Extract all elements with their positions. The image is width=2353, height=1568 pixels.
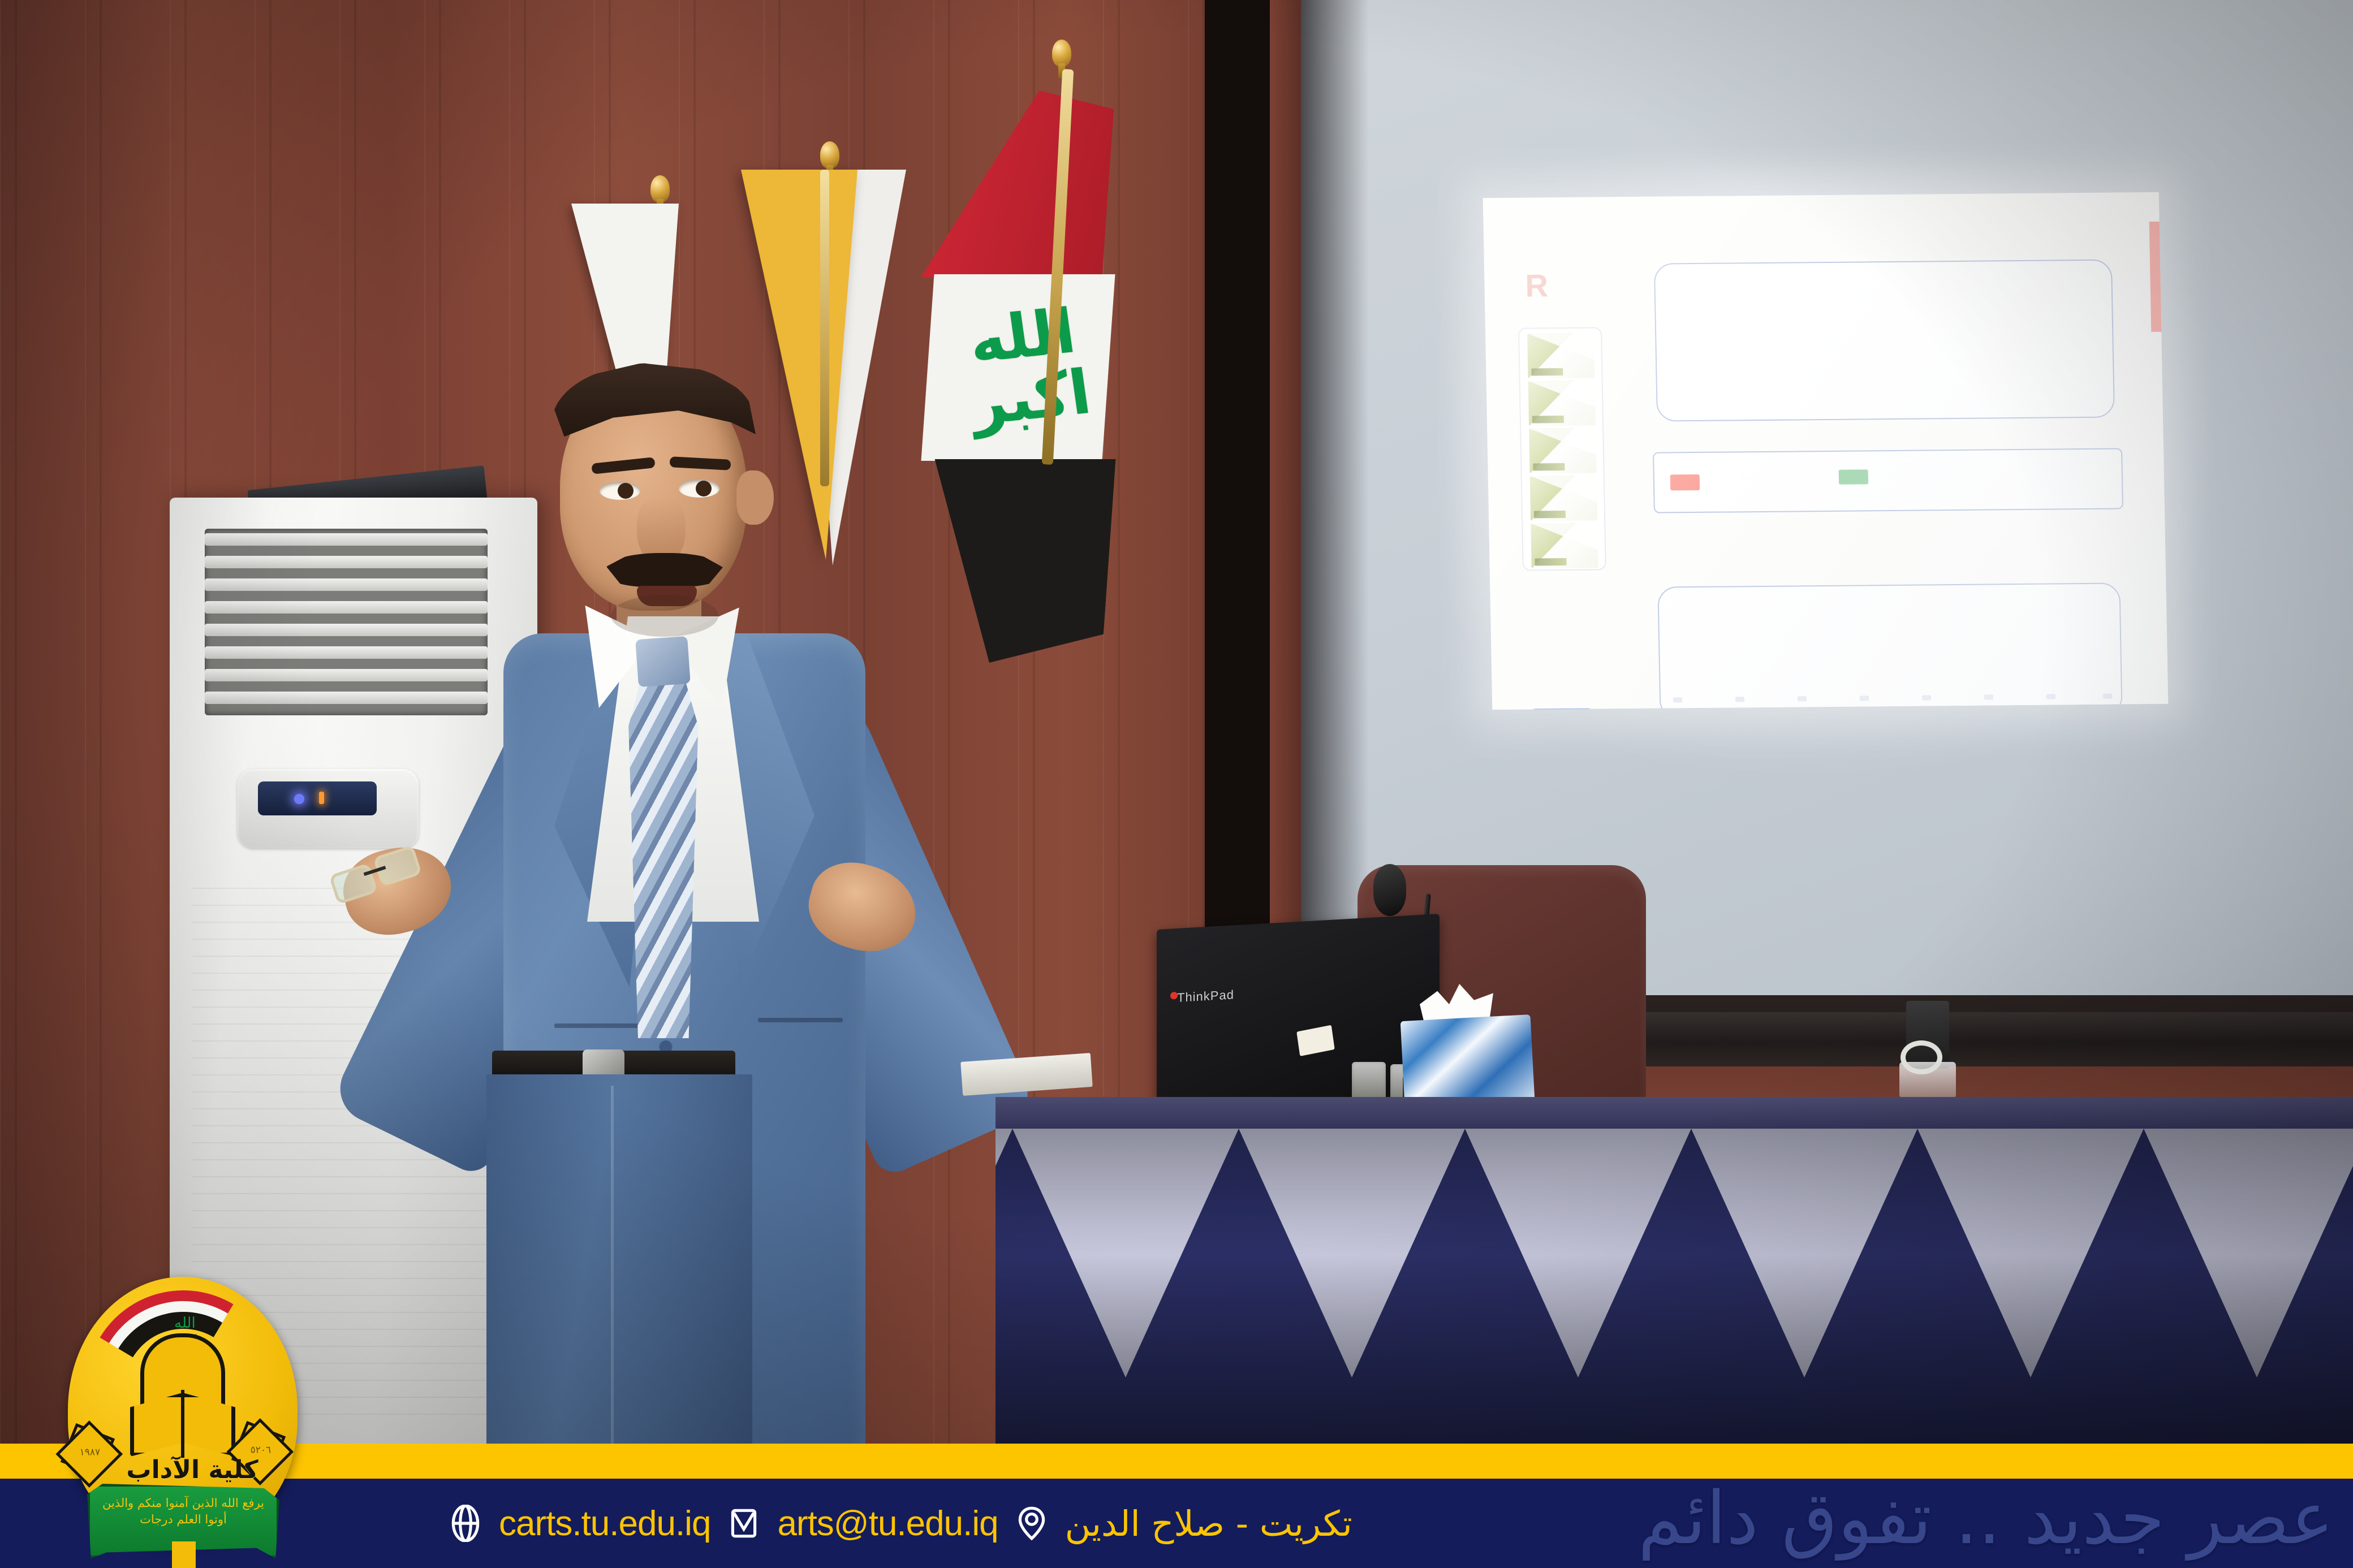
- slide-green-swatch: [1839, 469, 1868, 484]
- slide-color-stack: [1527, 655, 1607, 710]
- slide-thumbnail: [1530, 476, 1597, 521]
- mustache: [606, 553, 723, 587]
- speaker: [317, 339, 1063, 1448]
- projected-slide: R: [1483, 192, 2169, 710]
- website-url[interactable]: carts.tu.edu.iq: [499, 1504, 710, 1544]
- slide-thumbnail: [1528, 381, 1596, 426]
- envelope-icon: [725, 1505, 762, 1542]
- slide-content-box-bottom: [1657, 582, 2122, 710]
- emblem-book-spine: [181, 1390, 184, 1458]
- college-emblem: الله اكبر ١٩٨٧ ٥٢٠٦ كلية الآداب يرفع الل…: [61, 1260, 304, 1554]
- necktie-knot: [635, 636, 691, 687]
- eyeglass-lens: [329, 863, 378, 905]
- laptop-sticker: [1296, 1025, 1335, 1056]
- emblem-arc-takbir: الله اكبر: [174, 1314, 197, 1323]
- jacket-pocket: [554, 1023, 639, 1028]
- slide-content-box-top: [1654, 260, 2115, 422]
- slide-content-box-middle: [1653, 448, 2123, 513]
- flag-finial-icon: [650, 175, 670, 202]
- cup-handle: [1901, 1040, 1942, 1074]
- ac-power-led-icon: [294, 794, 304, 804]
- jacket-pocket: [758, 1018, 843, 1022]
- location-text: تكريت - صلاح الدين: [1065, 1503, 1352, 1544]
- pupil: [696, 481, 712, 496]
- flag-finial-icon: [1052, 40, 1071, 67]
- emblem-star-left-text: ١٩٨٧: [69, 1447, 111, 1458]
- chin-shadow: [611, 595, 718, 637]
- slide-thumbnail: [1531, 523, 1598, 569]
- iraq-flag-red-band: [921, 90, 1115, 277]
- ear: [736, 470, 774, 525]
- map-pin-icon: [1013, 1505, 1050, 1542]
- flag-finial-icon: [820, 141, 839, 169]
- email-address[interactable]: arts@tu.edu.iq: [777, 1504, 998, 1544]
- emblem-star-right-text: ٥٢٠٦: [240, 1445, 282, 1456]
- footer-slogan: عصر جديد .. تفوق دائم: [1525, 1469, 2334, 1568]
- trouser-crease: [611, 1086, 614, 1448]
- lecture-hall-photo: R: [0, 0, 2353, 1568]
- globe-icon: [447, 1505, 484, 1542]
- laptop-brand-label: ThinkPad: [1177, 987, 1234, 1005]
- slide-thumbnail-strip: [1518, 327, 1606, 571]
- trousers: [486, 1074, 752, 1448]
- emblem-college-name: كلية الآداب: [113, 1455, 271, 1484]
- footer-contact-row: carts.tu.edu.iq arts@tu.edu.iq تكريت - ص…: [447, 1479, 1352, 1568]
- emblem-base: [172, 1541, 196, 1568]
- slide-corner-letter: R: [1525, 270, 1548, 301]
- slide-red-swatch: [1670, 474, 1700, 490]
- slide-thumbnail: [1529, 428, 1596, 474]
- pupil: [618, 483, 633, 499]
- table-skirt: [996, 1129, 2353, 1445]
- emblem-quran-verse: يرفع الله الذين آمنوا منكم والذين أوتوا …: [93, 1495, 274, 1528]
- slide-thumbnail: [1527, 333, 1594, 379]
- microphone-head: [1373, 864, 1406, 916]
